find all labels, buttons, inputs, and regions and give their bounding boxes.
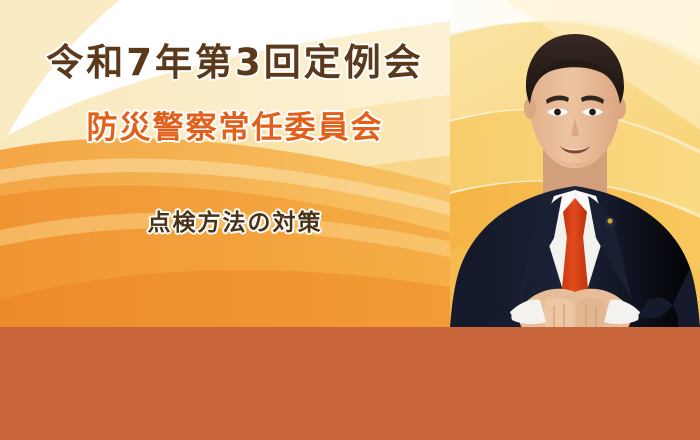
title-line-1: 令和7年第3回定例会 [46, 32, 424, 86]
title-text-block: 令和7年第3回定例会 防災警察常任委員会 点検方法の対策 [0, 0, 470, 330]
video-thumbnail: 令和7年第3回定例会 防災警察常任委員会 点検方法の対策 [0, 0, 700, 440]
title-line-2: 防災警察常任委員会 [87, 102, 384, 147]
subtitle-line: 点検方法の対策 [148, 203, 323, 237]
footer-color-band [0, 327, 700, 440]
